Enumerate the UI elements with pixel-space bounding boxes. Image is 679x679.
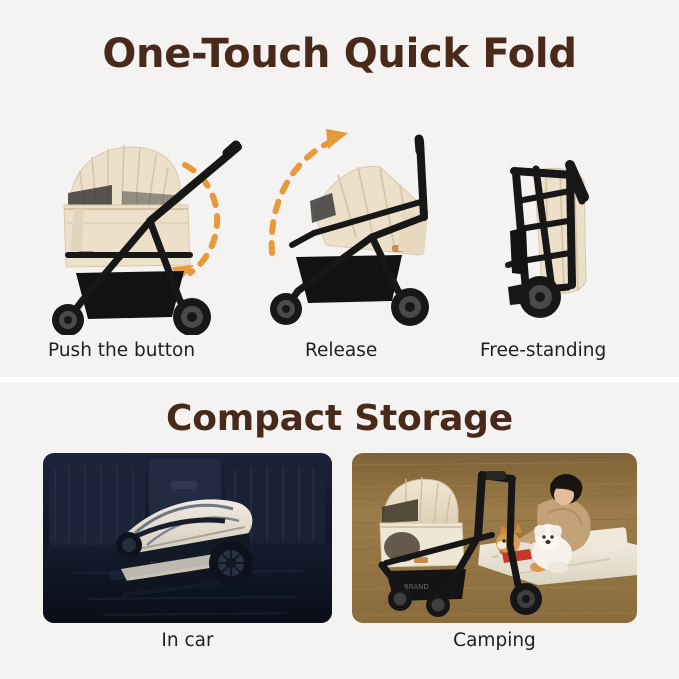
fold-caption-row: Push the button Release Free-standing (0, 340, 679, 368)
product-infographic: One-Touch Quick Fold (0, 0, 679, 679)
stroller-canopy (68, 145, 180, 211)
page-title: One-Touch Quick Fold (0, 31, 679, 77)
stroller-folded-standing-illustration (460, 105, 670, 335)
fold-step-3 (460, 105, 670, 335)
photo-in-car-caption: In car (43, 630, 332, 651)
fold-step-2 (252, 105, 460, 335)
stroller-upright-illustration (22, 105, 252, 335)
svg-text:BRAND: BRAND (404, 583, 429, 591)
compact-storage-section: Compact Storage (0, 382, 679, 679)
photo-camping-caption: Camping (352, 630, 637, 651)
stroller-wheels (508, 276, 561, 318)
section-title: Compact Storage (0, 398, 679, 439)
fold-step-row (0, 105, 679, 335)
stroller-half-folded-illustration (252, 105, 460, 335)
camping-scene: BRAND (352, 453, 637, 623)
folded-basket (510, 227, 528, 275)
fold-step-3-caption: Free-standing (480, 340, 606, 361)
photo-camping: BRAND (352, 453, 637, 623)
quick-fold-section: One-Touch Quick Fold (0, 0, 679, 379)
car-trunk-scene (43, 453, 332, 623)
fold-step-2-caption: Release (305, 340, 377, 361)
fold-step-1-caption: Push the button (48, 340, 195, 361)
fold-step-1 (22, 105, 252, 335)
photo-in-car (43, 453, 332, 623)
